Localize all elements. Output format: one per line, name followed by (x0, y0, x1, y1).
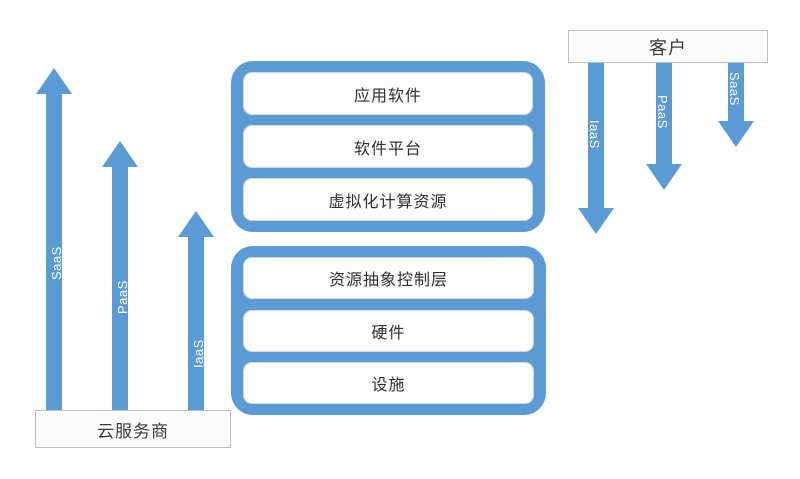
arrow-up-paas (102, 141, 138, 414)
arrow-up-saas-label: SaaS (50, 246, 63, 280)
arrow-up-iaas (178, 211, 214, 414)
layer-label: 资源抽象控制层 (329, 266, 448, 290)
provider-box: 云服务商 (35, 410, 231, 448)
arrow-up-saas (36, 68, 72, 414)
layer-resource-abstraction-control: 资源抽象控制层 (243, 257, 534, 299)
stack-bottom-group: 资源抽象控制层 硬件 设施 (231, 246, 546, 415)
arrow-up-iaas-label: IaaS (192, 339, 205, 368)
stack-top-group: 应用软件 软件平台 虚拟化计算资源 (231, 61, 545, 232)
layer-facility: 设施 (243, 362, 534, 404)
arrow-down-saas-label: SaaS (728, 72, 741, 106)
layer-software-platform: 软件平台 (243, 125, 533, 168)
layer-label: 设施 (371, 371, 405, 395)
layer-virtualized-compute-resources: 虚拟化计算资源 (243, 178, 533, 221)
layer-label: 虚拟化计算资源 (328, 188, 447, 212)
diagram-canvas: SaaS PaaS IaaS 云服务商 应用软件 软件平台 虚拟化计算资源 资源… (0, 0, 800, 479)
provider-label: 云服务商 (97, 417, 169, 442)
layer-label: 软件平台 (354, 135, 422, 159)
layer-hardware: 硬件 (243, 310, 534, 352)
arrow-down-iaas-label: IaaS (588, 120, 601, 149)
layer-application-software: 应用软件 (243, 72, 533, 115)
arrow-down-paas-label: PaaS (656, 95, 669, 129)
layer-label: 应用软件 (354, 82, 422, 106)
arrow-up-paas-label: PaaS (116, 280, 129, 314)
customer-label: 客户 (649, 34, 687, 60)
customer-box: 客户 (568, 30, 768, 63)
layer-label: 硬件 (371, 319, 405, 343)
